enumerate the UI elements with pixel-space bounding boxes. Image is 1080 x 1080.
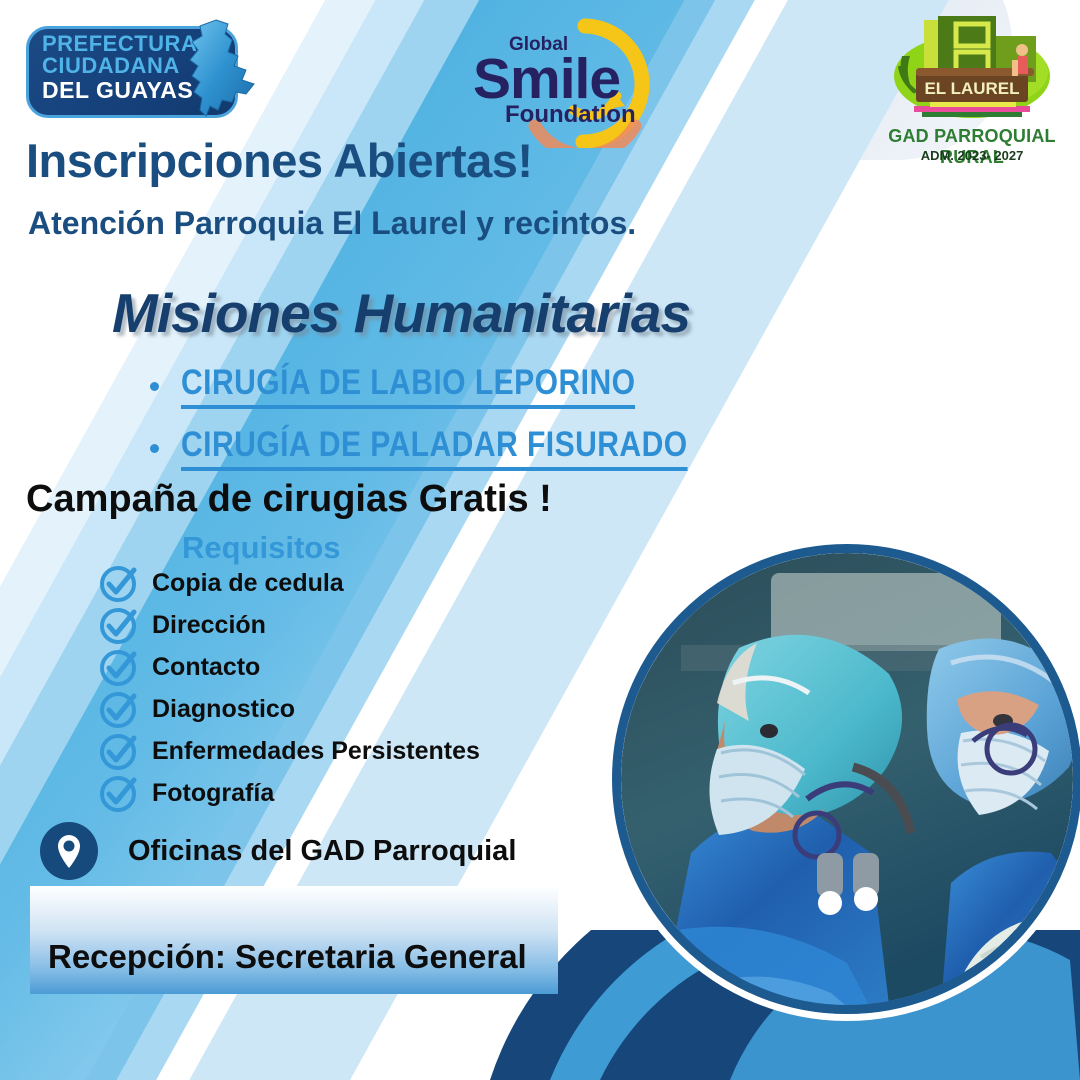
requisito-row: Enfermedades Persistentes bbox=[98, 730, 480, 772]
check-circle-icon bbox=[98, 688, 142, 730]
heading-inscripciones: Inscripciones Abiertas! bbox=[26, 133, 533, 188]
surgery-label: CIRUGÍA DE PALADAR FISURADO bbox=[181, 425, 688, 471]
requisito-row: Dirección bbox=[98, 604, 480, 646]
heading-campana: Campaña de cirugias Gratis ! bbox=[26, 478, 552, 521]
check-circle-icon bbox=[98, 772, 142, 814]
heading-atencion: Atención Parroquia El Laurel y recintos. bbox=[28, 205, 636, 242]
location-text: Oficinas del GAD Parroquial bbox=[128, 835, 516, 868]
surgery-list-item: CIRUGÍA DE LABIO LEPORINO bbox=[150, 363, 770, 409]
smile-foundation-text: Foundation bbox=[505, 101, 636, 129]
check-circle-icon bbox=[98, 604, 142, 646]
requisito-row: Diagnostico bbox=[98, 688, 480, 730]
requisito-row: Fotografía bbox=[98, 772, 480, 814]
requisito-label: Dirección bbox=[152, 611, 266, 640]
requisito-row: Copia de cedula bbox=[98, 562, 480, 604]
global-smile-foundation-logo: Global Smile Foundation bbox=[465, 18, 685, 148]
heading-misiones-humanitarias: Misiones Humanitarias bbox=[112, 281, 690, 345]
el-laurel-emblem-icon: EL LAUREL bbox=[872, 14, 1072, 126]
svg-text:EL LAUREL: EL LAUREL bbox=[924, 79, 1019, 98]
check-circle-icon bbox=[98, 562, 142, 604]
requisitos-list: Copia de cedula Dirección Contacto Diagn… bbox=[98, 562, 480, 814]
gad-subtitle: ADM. 2023- 2027 bbox=[872, 148, 1072, 163]
poster-root: PREFECTURA CIUDADANA DEL GUAYAS Global S… bbox=[0, 0, 1080, 1080]
requisitos-title: Requisitos bbox=[182, 530, 340, 566]
prefectura-text-block: PREFECTURA CIUDADANA DEL GUAYAS bbox=[42, 33, 197, 102]
surgery-team-photo bbox=[612, 544, 1080, 1014]
bullet-dot-icon bbox=[150, 444, 159, 453]
check-circle-icon bbox=[98, 730, 142, 772]
requisito-label: Diagnostico bbox=[152, 695, 295, 724]
reception-text: Recepción: Secretaria General bbox=[30, 938, 527, 994]
bullet-dot-icon bbox=[150, 382, 159, 391]
prefectura-line-3: DEL GUAYAS bbox=[42, 79, 197, 102]
prefectura-logo: PREFECTURA CIUDADANA DEL GUAYAS bbox=[26, 20, 258, 124]
requisito-label: Contacto bbox=[152, 653, 260, 682]
location-row: Oficinas del GAD Parroquial bbox=[40, 822, 516, 880]
requisito-label: Copia de cedula bbox=[152, 569, 344, 598]
surgery-label: CIRUGÍA DE LABIO LEPORINO bbox=[181, 363, 635, 409]
surgery-list: CIRUGÍA DE LABIO LEPORINO CIRUGÍA DE PAL… bbox=[150, 363, 770, 487]
gad-parroquial-logo: EL LAUREL GAD PARROQUIAL RURAL ADM. 2023… bbox=[872, 14, 1072, 174]
location-pin-icon bbox=[40, 822, 98, 880]
check-circle-icon bbox=[98, 646, 142, 688]
requisito-row: Contacto bbox=[98, 646, 480, 688]
prefectura-line-1: PREFECTURA bbox=[42, 33, 197, 55]
surgery-photo-illustration bbox=[621, 553, 1073, 1005]
requisito-label: Enfermedades Persistentes bbox=[152, 737, 480, 766]
prefectura-line-2: CIUDADANA bbox=[42, 55, 197, 77]
requisito-label: Fotografía bbox=[152, 779, 274, 808]
guayas-province-map-icon bbox=[176, 18, 262, 130]
surgery-list-item: CIRUGÍA DE PALADAR FISURADO bbox=[150, 425, 770, 471]
reception-banner: Recepción: Secretaria General bbox=[30, 886, 558, 994]
surgery-photo-inner bbox=[621, 553, 1073, 1005]
